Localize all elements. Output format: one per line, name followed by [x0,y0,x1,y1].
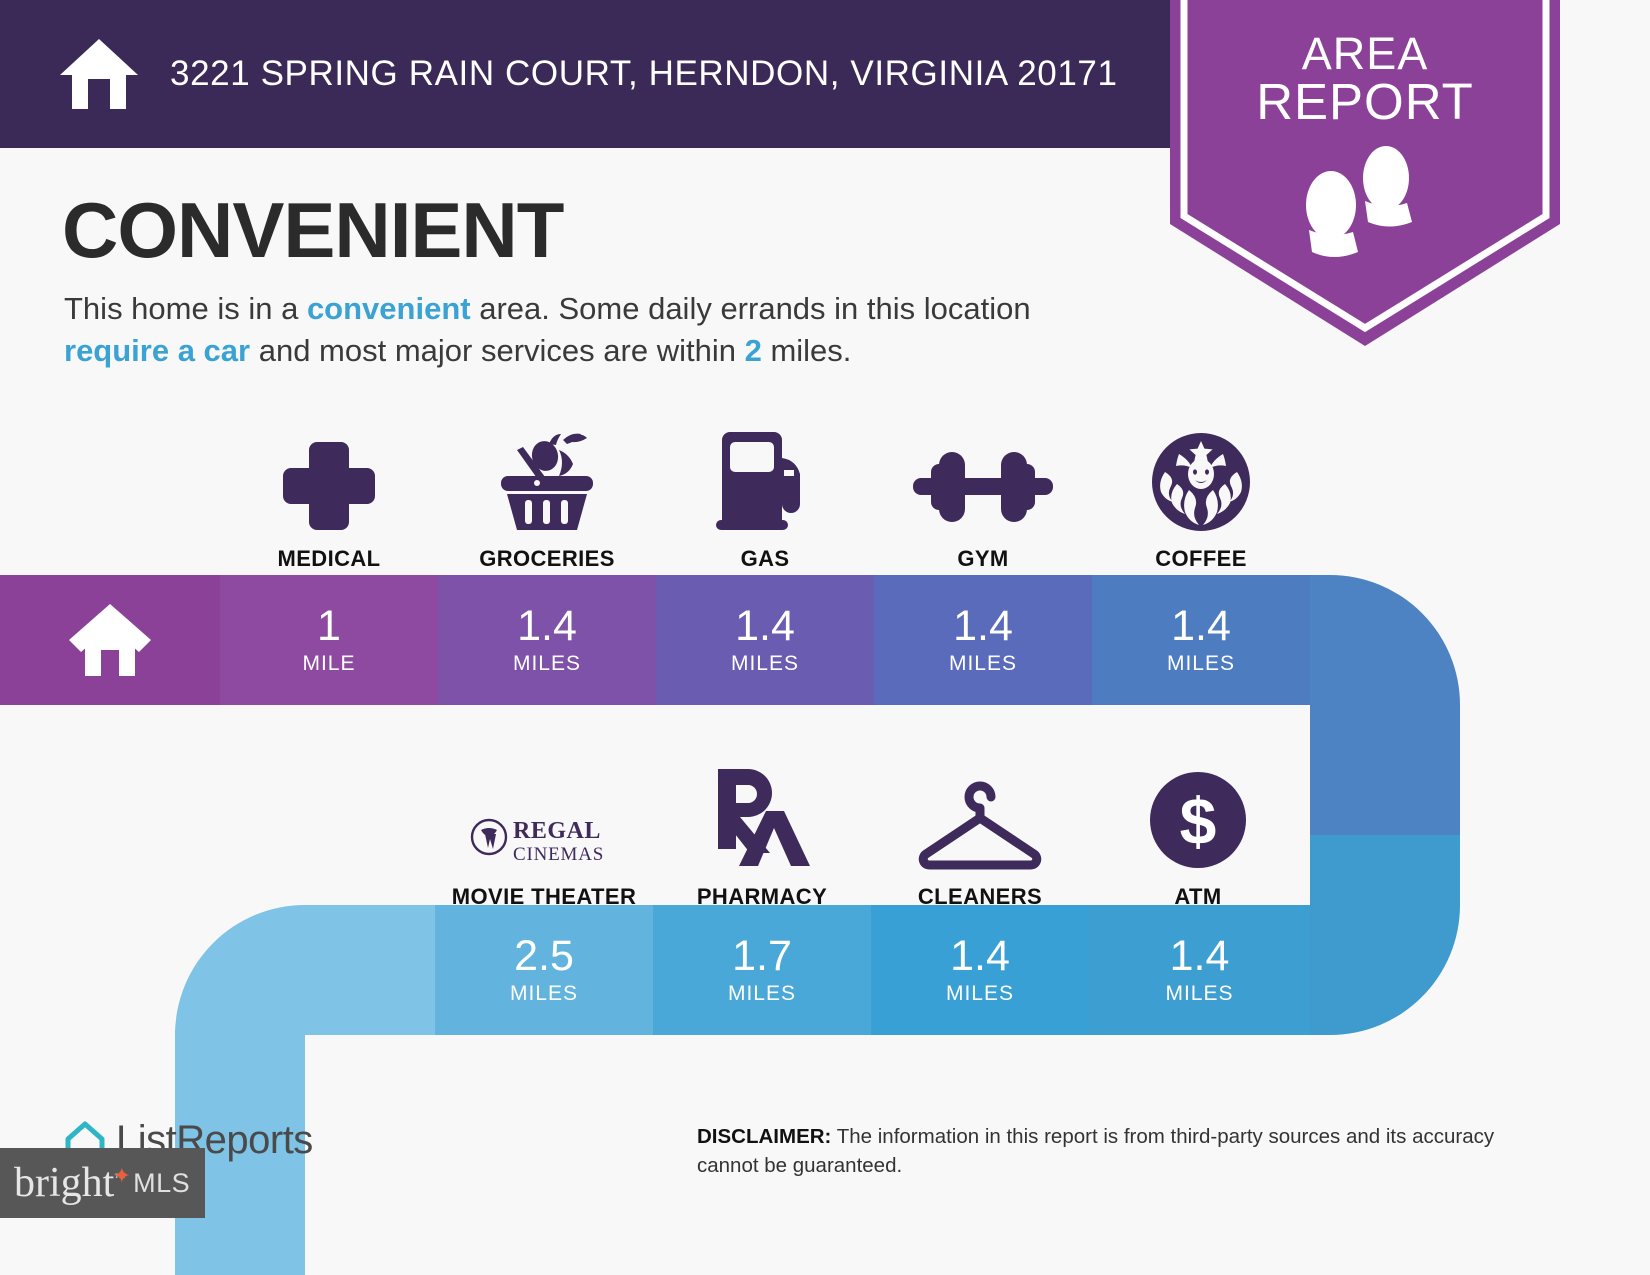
distance-pharmacy: 1.7 MILES [653,905,871,1035]
distance-groceries: 1.4 MILES [438,575,656,705]
regal-cinemas-icon: REGAL CINEMAS [469,765,619,870]
subtitle-highlight-2: require a car [64,333,250,368]
category-coffee[interactable]: COFFEE [1092,412,1310,572]
distance-value: 1.4 [517,604,577,648]
subtitle-part-1: This home is in a [64,291,307,326]
badge-line-2: REPORT [1170,78,1560,126]
row1-icon-strip: MEDICAL [0,412,1320,572]
page-header: 3221 SPRING RAIN COURT, HERNDON, VIRGINI… [0,0,1180,148]
row1-spacer [0,412,220,572]
category-gym[interactable]: GYM [874,412,1092,572]
distance-value: 1.7 [732,934,792,978]
category-label: GROCERIES [479,546,615,572]
medical-cross-icon [281,427,377,532]
badge-line-1: AREA [1170,30,1560,78]
row1-home-marker [0,575,220,705]
bright-mls-watermark: bright✦™ MLS [0,1148,205,1218]
category-label: GAS [741,546,790,572]
category-medical[interactable]: MEDICAL [220,412,438,572]
subtitle-part-2: area. Some daily errands in this locatio… [471,291,1031,326]
category-groceries[interactable]: GROCERIES [438,412,656,572]
distance-unit: MILES [513,652,581,676]
subtitle-highlight-1: convenient [307,291,471,326]
distance-value: 1.4 [1171,604,1231,648]
area-report-badge: AREA REPORT [1170,0,1560,346]
page-subtitle: This home is in a convenient area. Some … [64,288,1084,372]
subtitle-highlight-3: 2 [745,333,762,368]
bright-spark-icon: ✦ [113,1163,131,1189]
badge-label: AREA REPORT [1170,30,1560,126]
distance-coffee: 1.4 MILES [1092,575,1310,705]
distance-medical: 1 MILE [220,575,438,705]
home-icon [58,35,140,113]
distance-value: 1.4 [735,604,795,648]
page-title: CONVENIENT [62,185,563,276]
category-label: MEDICAL [277,546,380,572]
distance-atm: 1.4 MILES [1089,905,1310,1035]
property-address: 3221 SPRING RAIN COURT, HERNDON, VIRGINI… [170,54,1118,94]
home-icon [67,602,153,678]
subtitle-part-4: miles. [762,333,852,368]
area-report-page: 3221 SPRING RAIN COURT, HERNDON, VIRGINI… [0,0,1650,1275]
distance-unit: MILES [728,982,796,1006]
bright-mls-brand: bright✦™ [14,1159,125,1207]
distance-unit: MILES [731,652,799,676]
distance-movie-theater: 2.5 MILES [435,905,653,1035]
disclaimer: DISCLAIMER: The information in this repo… [697,1122,1517,1180]
distance-value: 1.4 [953,604,1013,648]
gas-pump-icon [710,427,820,532]
distance-gym: 1.4 MILES [874,575,1092,705]
distance-cleaners: 1.4 MILES [871,905,1089,1035]
bright-mls-suffix: MLS [133,1168,190,1199]
disclaimer-label: DISCLAIMER: [697,1125,831,1148]
row2-spacer [0,750,435,910]
distance-unit: MILES [1167,652,1235,676]
subtitle-part-3: and most major services are within [250,333,744,368]
distance-unit: MILES [949,652,1017,676]
category-label: GYM [957,546,1008,572]
category-movie-theater[interactable]: REGAL CINEMAS MOVIE THEATER [435,750,653,910]
distance-value: 1 [317,604,341,648]
distance-unit: MILES [510,982,578,1006]
svg-text:$: $ [1180,784,1217,858]
category-atm[interactable]: $ ATM [1089,750,1307,910]
category-label: COFFEE [1155,546,1247,572]
distance-unit: MILES [946,982,1014,1006]
distance-gas: 1.4 MILES [656,575,874,705]
ribbon-right-elbow [1310,575,1460,1035]
rx-icon [712,765,812,870]
starbucks-icon [1151,427,1251,532]
hanger-icon [910,765,1050,870]
ribbon-left-tail [175,910,305,1275]
svg-text:REGAL: REGAL [513,818,601,844]
category-gas[interactable]: GAS [656,412,874,572]
dumbbell-icon [913,427,1053,532]
dollar-circle-icon: $ [1148,765,1248,870]
distance-value: 1.4 [950,934,1010,978]
grocery-basket-icon [487,427,607,532]
category-cleaners[interactable]: CLEANERS [871,750,1089,910]
row2-icon-strip: REGAL CINEMAS MOVIE THEATER PHARMACY [0,750,1320,910]
svg-text:CINEMAS: CINEMAS [513,844,604,865]
distance-unit: MILE [302,652,355,676]
distance-unit: MILES [1165,982,1233,1006]
category-pharmacy[interactable]: PHARMACY [653,750,871,910]
distance-value: 2.5 [514,934,574,978]
distance-value: 1.4 [1170,934,1230,978]
